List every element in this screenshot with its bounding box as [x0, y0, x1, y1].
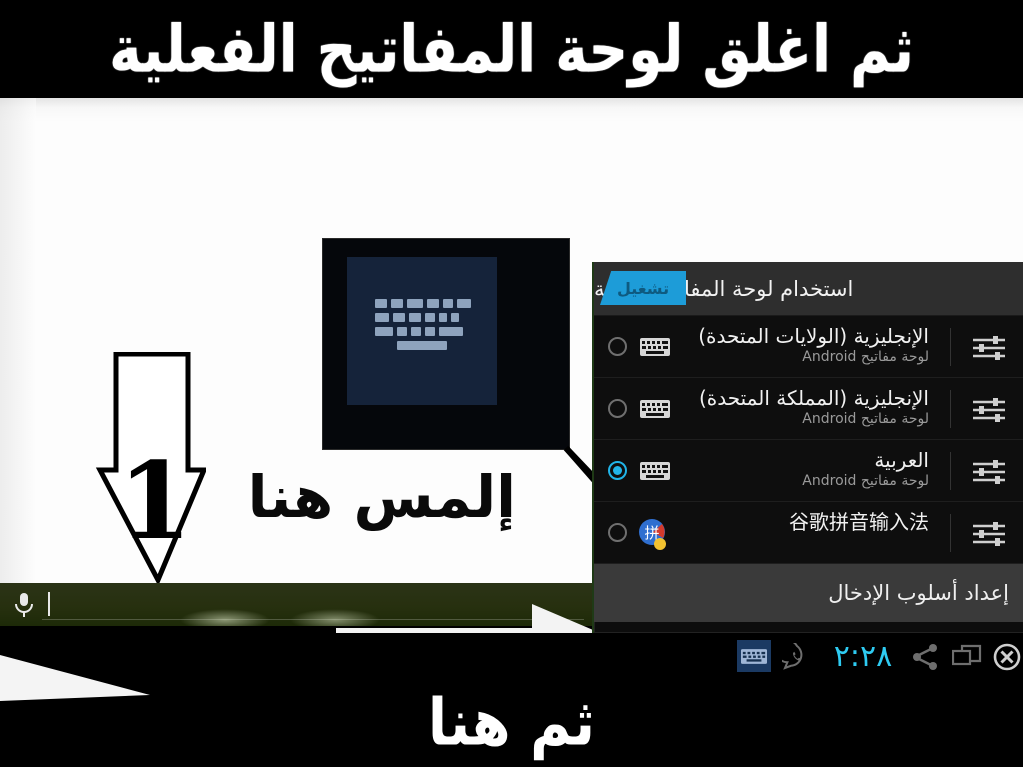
ime-name: الإنجليزية (الولايات المتحدة)	[714, 324, 929, 348]
keyboard-icon	[640, 400, 670, 418]
row-divider	[950, 328, 951, 366]
magnifier-inner-panel	[347, 257, 497, 405]
row-divider	[950, 514, 951, 552]
top-instruction-text: ثم اغلق لوحة المفاتيح الفعلية	[109, 17, 914, 82]
screen-capture-icon[interactable]	[952, 643, 982, 671]
screenshot-root: ثم اغلق لوحة المفاتيح الفعلية	[0, 0, 1023, 767]
keyboard-icon-magnifier-inset	[322, 238, 570, 450]
touch-here-annotation: إلمس هنا	[206, 468, 516, 558]
status-keyboard-button[interactable]	[737, 640, 771, 672]
step-number-label: 1	[118, 448, 178, 558]
sliders-icon[interactable]	[971, 397, 1007, 423]
setup-input-methods-row[interactable]: إعداد أسلوب الإدخال	[594, 564, 1023, 622]
ime-radio[interactable]	[608, 337, 627, 356]
keyboard-icon	[640, 462, 670, 480]
ime-subtitle: لوحة مفاتيح Android	[714, 410, 929, 428]
canvas-top-texture	[0, 98, 1023, 122]
ime-name: الإنجليزية (المملكة المتحدة)	[714, 386, 929, 410]
ime-row[interactable]: 拼 谷歌拼音输入法	[594, 502, 1023, 564]
share-icon[interactable]	[910, 643, 940, 671]
ime-name: العربية	[714, 448, 929, 472]
ime-radio[interactable]	[608, 523, 627, 542]
ime-labels: الإنجليزية (الولايات المتحدة) لوحة مفاتي…	[714, 324, 929, 366]
ime-subtitle: لوحة مفاتيح Android	[714, 348, 929, 366]
ime-row[interactable]: العربية لوحة مفاتيح Android	[594, 440, 1023, 502]
touch-here-text: إلمس هنا	[206, 468, 516, 526]
sliders-icon[interactable]	[971, 521, 1007, 547]
ime-labels: 谷歌拼音输入法	[714, 510, 929, 534]
hardware-keyboard-toggle[interactable]: تشغيل	[600, 271, 686, 305]
keyboard-icon-magnified	[375, 299, 471, 355]
ime-radio[interactable]	[608, 461, 627, 480]
top-instruction-banner: ثم اغلق لوحة المفاتيح الفعلية	[0, 0, 1023, 98]
text-caret	[48, 592, 50, 616]
microphone-icon[interactable]	[13, 592, 35, 618]
ime-row[interactable]: الإنجليزية (المملكة المتحدة) لوحة مفاتيح…	[594, 378, 1023, 440]
input-method-picker-panel: استخدام لوحة المفاتيح الفعلية تشغيل	[592, 262, 1023, 633]
ime-subtitle: لوحة مفاتيح Android	[714, 472, 929, 490]
panel-header: استخدام لوحة المفاتيح الفعلية تشغيل	[594, 262, 1023, 316]
keyboard-icon	[741, 649, 767, 664]
bottom-instruction-text: ثم هنا	[428, 692, 595, 756]
toggle-label: تشغيل	[617, 279, 669, 298]
status-bar-left-filler	[0, 633, 592, 681]
google-pinyin-icon: 拼	[636, 518, 670, 550]
close-circle-icon[interactable]	[992, 643, 1022, 671]
canvas-left-texture	[0, 98, 36, 583]
row-divider	[950, 452, 951, 490]
row-divider	[950, 390, 951, 428]
status-clock: ٢:٢٨	[808, 639, 918, 675]
status-bar: ٢:٢٨	[592, 633, 1023, 681]
ime-row[interactable]: الإنجليزية (الولايات المتحدة) لوحة مفاتي…	[594, 316, 1023, 378]
ime-labels: الإنجليزية (المملكة المتحدة) لوحة مفاتيح…	[714, 386, 929, 428]
setup-input-methods-label: إعداد أسلوب الإدخال	[828, 581, 1023, 605]
ime-radio[interactable]	[608, 399, 627, 418]
keyboard-icon	[640, 338, 670, 356]
bottom-instruction-banner: ثم هنا	[0, 681, 1023, 767]
sliders-icon[interactable]	[971, 335, 1007, 361]
sliders-icon[interactable]	[971, 459, 1007, 485]
ime-name: 谷歌拼音输入法	[714, 510, 929, 534]
ime-labels: العربية لوحة مفاتيح Android	[714, 448, 929, 490]
step-1-down-arrow: 1	[88, 352, 206, 584]
